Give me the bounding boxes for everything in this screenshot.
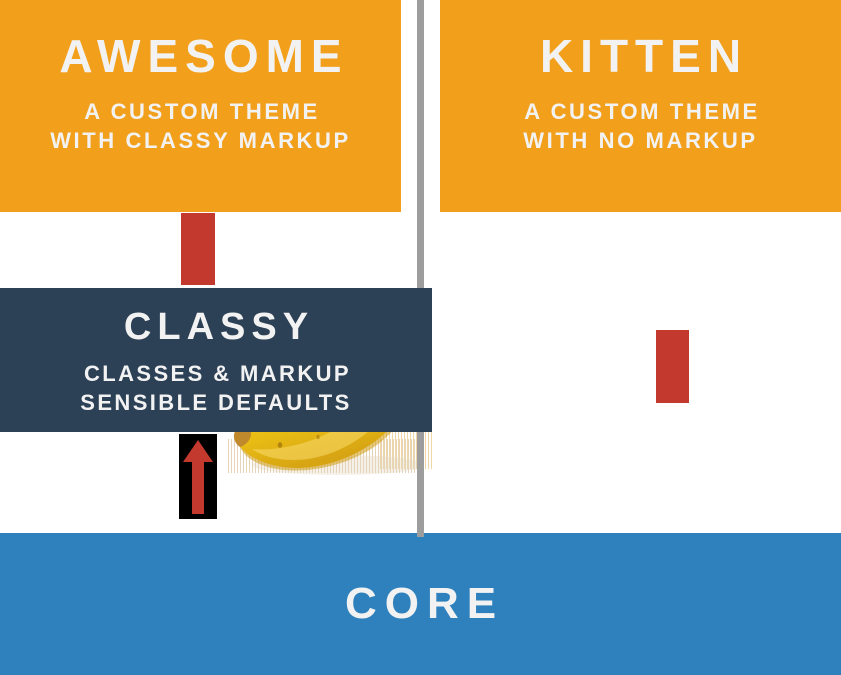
panel-core[interactable]: CORE — [0, 533, 841, 675]
arrow-up-glyph — [179, 434, 217, 519]
panel-kitten-subline: A CUSTOM THEME WITH NO MARKUP — [521, 97, 760, 155]
panel-classy-subline-line2: SENSIBLE DEFAULTS — [80, 390, 351, 415]
panel-kitten[interactable]: KITTEN A CUSTOM THEME WITH NO MARKUP — [440, 0, 841, 212]
panel-kitten-headline: KITTEN — [533, 30, 748, 83]
panel-awesome-subline-line2: WITH CLASSY MARKUP — [50, 128, 351, 153]
red-accent-block-right — [656, 330, 689, 403]
red-accent-block-top — [181, 213, 215, 285]
panel-classy-headline: CLASSY — [0, 307, 432, 349]
panel-classy-subline-line1: CLASSES & MARKUP — [84, 361, 351, 386]
vertical-divider-rule — [417, 0, 424, 537]
panel-classy[interactable]: CLASSY CLASSES & MARKUP SENSIBLE DEFAULT… — [0, 288, 432, 432]
layout-stage: AWESOME A CUSTOM THEME WITH CLASSY MARKU… — [0, 0, 841, 675]
panel-kitten-subline-line2: WITH NO MARKUP — [523, 128, 757, 153]
panel-awesome[interactable]: AWESOME A CUSTOM THEME WITH CLASSY MARKU… — [0, 0, 401, 212]
panel-awesome-headline: AWESOME — [52, 30, 348, 83]
panel-awesome-subline-line1: A CUSTOM THEME — [84, 99, 320, 124]
panel-awesome-subline: A CUSTOM THEME WITH CLASSY MARKUP — [50, 97, 351, 155]
panel-kitten-subline-line1: A CUSTOM THEME — [524, 99, 760, 124]
panel-core-headline: CORE — [337, 579, 504, 629]
arrow-up-icon[interactable] — [179, 434, 217, 519]
panel-classy-subline: CLASSES & MARKUP SENSIBLE DEFAULTS — [0, 359, 432, 417]
